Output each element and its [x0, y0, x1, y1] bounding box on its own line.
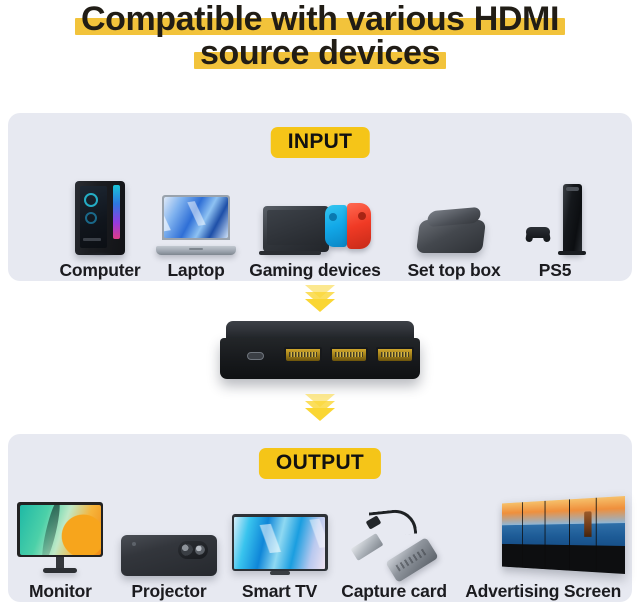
input-device-label: Set top box — [407, 260, 500, 281]
input-panel: INPUT Computer — [8, 113, 632, 281]
computer-monitor-icon — [8, 498, 113, 576]
laptop-icon — [152, 177, 240, 255]
input-badge: INPUT — [271, 127, 370, 158]
product-infographic-page: Compatible with various HDMI source devi… — [0, 0, 640, 609]
input-device-row: Computer Laptop — [8, 165, 632, 281]
hdmi-port-1 — [284, 347, 322, 363]
output-device-label: Projector — [131, 581, 206, 602]
output-panel: OUTPUT Monitor — [8, 434, 632, 602]
hdmi-port-2 — [330, 347, 368, 363]
output-device-label: Advertising Screen — [465, 581, 621, 602]
output-device-capture-card[interactable]: Capture card — [334, 498, 454, 602]
output-device-label: Smart TV — [242, 581, 317, 602]
desktop-pc-tower-icon — [48, 177, 152, 255]
output-device-advertising-screen[interactable]: Advertising Screen — [454, 498, 632, 602]
usb-c-port-icon — [247, 352, 264, 360]
input-device-label: Computer — [59, 260, 140, 281]
usb-capture-card-icon — [334, 498, 454, 576]
arrow-down-icon-top — [305, 285, 335, 317]
input-device-gaming[interactable]: Gaming devices — [240, 177, 390, 281]
hdmi-switch-device[interactable] — [220, 321, 420, 379]
title-line-1: Compatible with various HDMI — [81, 2, 559, 36]
input-device-computer[interactable]: Computer — [48, 177, 152, 281]
hdmi-port-3 — [376, 347, 414, 363]
title-line-2: source devices — [200, 36, 440, 70]
video-wall-display-icon — [454, 498, 632, 576]
game-console-switch-icon — [240, 177, 390, 255]
input-device-label: Laptop — [167, 260, 224, 281]
output-device-smart-tv[interactable]: Smart TV — [225, 498, 334, 602]
output-device-label: Capture card — [341, 581, 447, 602]
output-device-monitor[interactable]: Monitor — [8, 498, 113, 602]
playstation5-console-icon — [518, 177, 592, 255]
input-device-label: PS5 — [539, 260, 571, 281]
input-device-laptop[interactable]: Laptop — [152, 177, 240, 281]
projector-icon — [113, 498, 226, 576]
input-device-set-top-box[interactable]: Set top box — [390, 177, 518, 281]
output-device-projector[interactable]: Projector — [113, 498, 226, 602]
title-text-1: Compatible with various HDMI — [81, 0, 559, 38]
set-top-box-icon — [390, 177, 518, 255]
television-icon — [225, 498, 334, 576]
output-badge: OUTPUT — [259, 448, 381, 479]
arrow-down-icon-bottom — [305, 394, 335, 426]
hdmi-switch-area — [0, 281, 640, 434]
input-device-ps5[interactable]: PS5 — [518, 177, 592, 281]
output-device-label: Monitor — [29, 581, 92, 602]
title-text-2: source devices — [200, 34, 440, 72]
output-device-row: Monitor Projector — [8, 486, 632, 602]
input-device-label: Gaming devices — [249, 260, 380, 281]
page-title: Compatible with various HDMI source devi… — [0, 0, 640, 70]
